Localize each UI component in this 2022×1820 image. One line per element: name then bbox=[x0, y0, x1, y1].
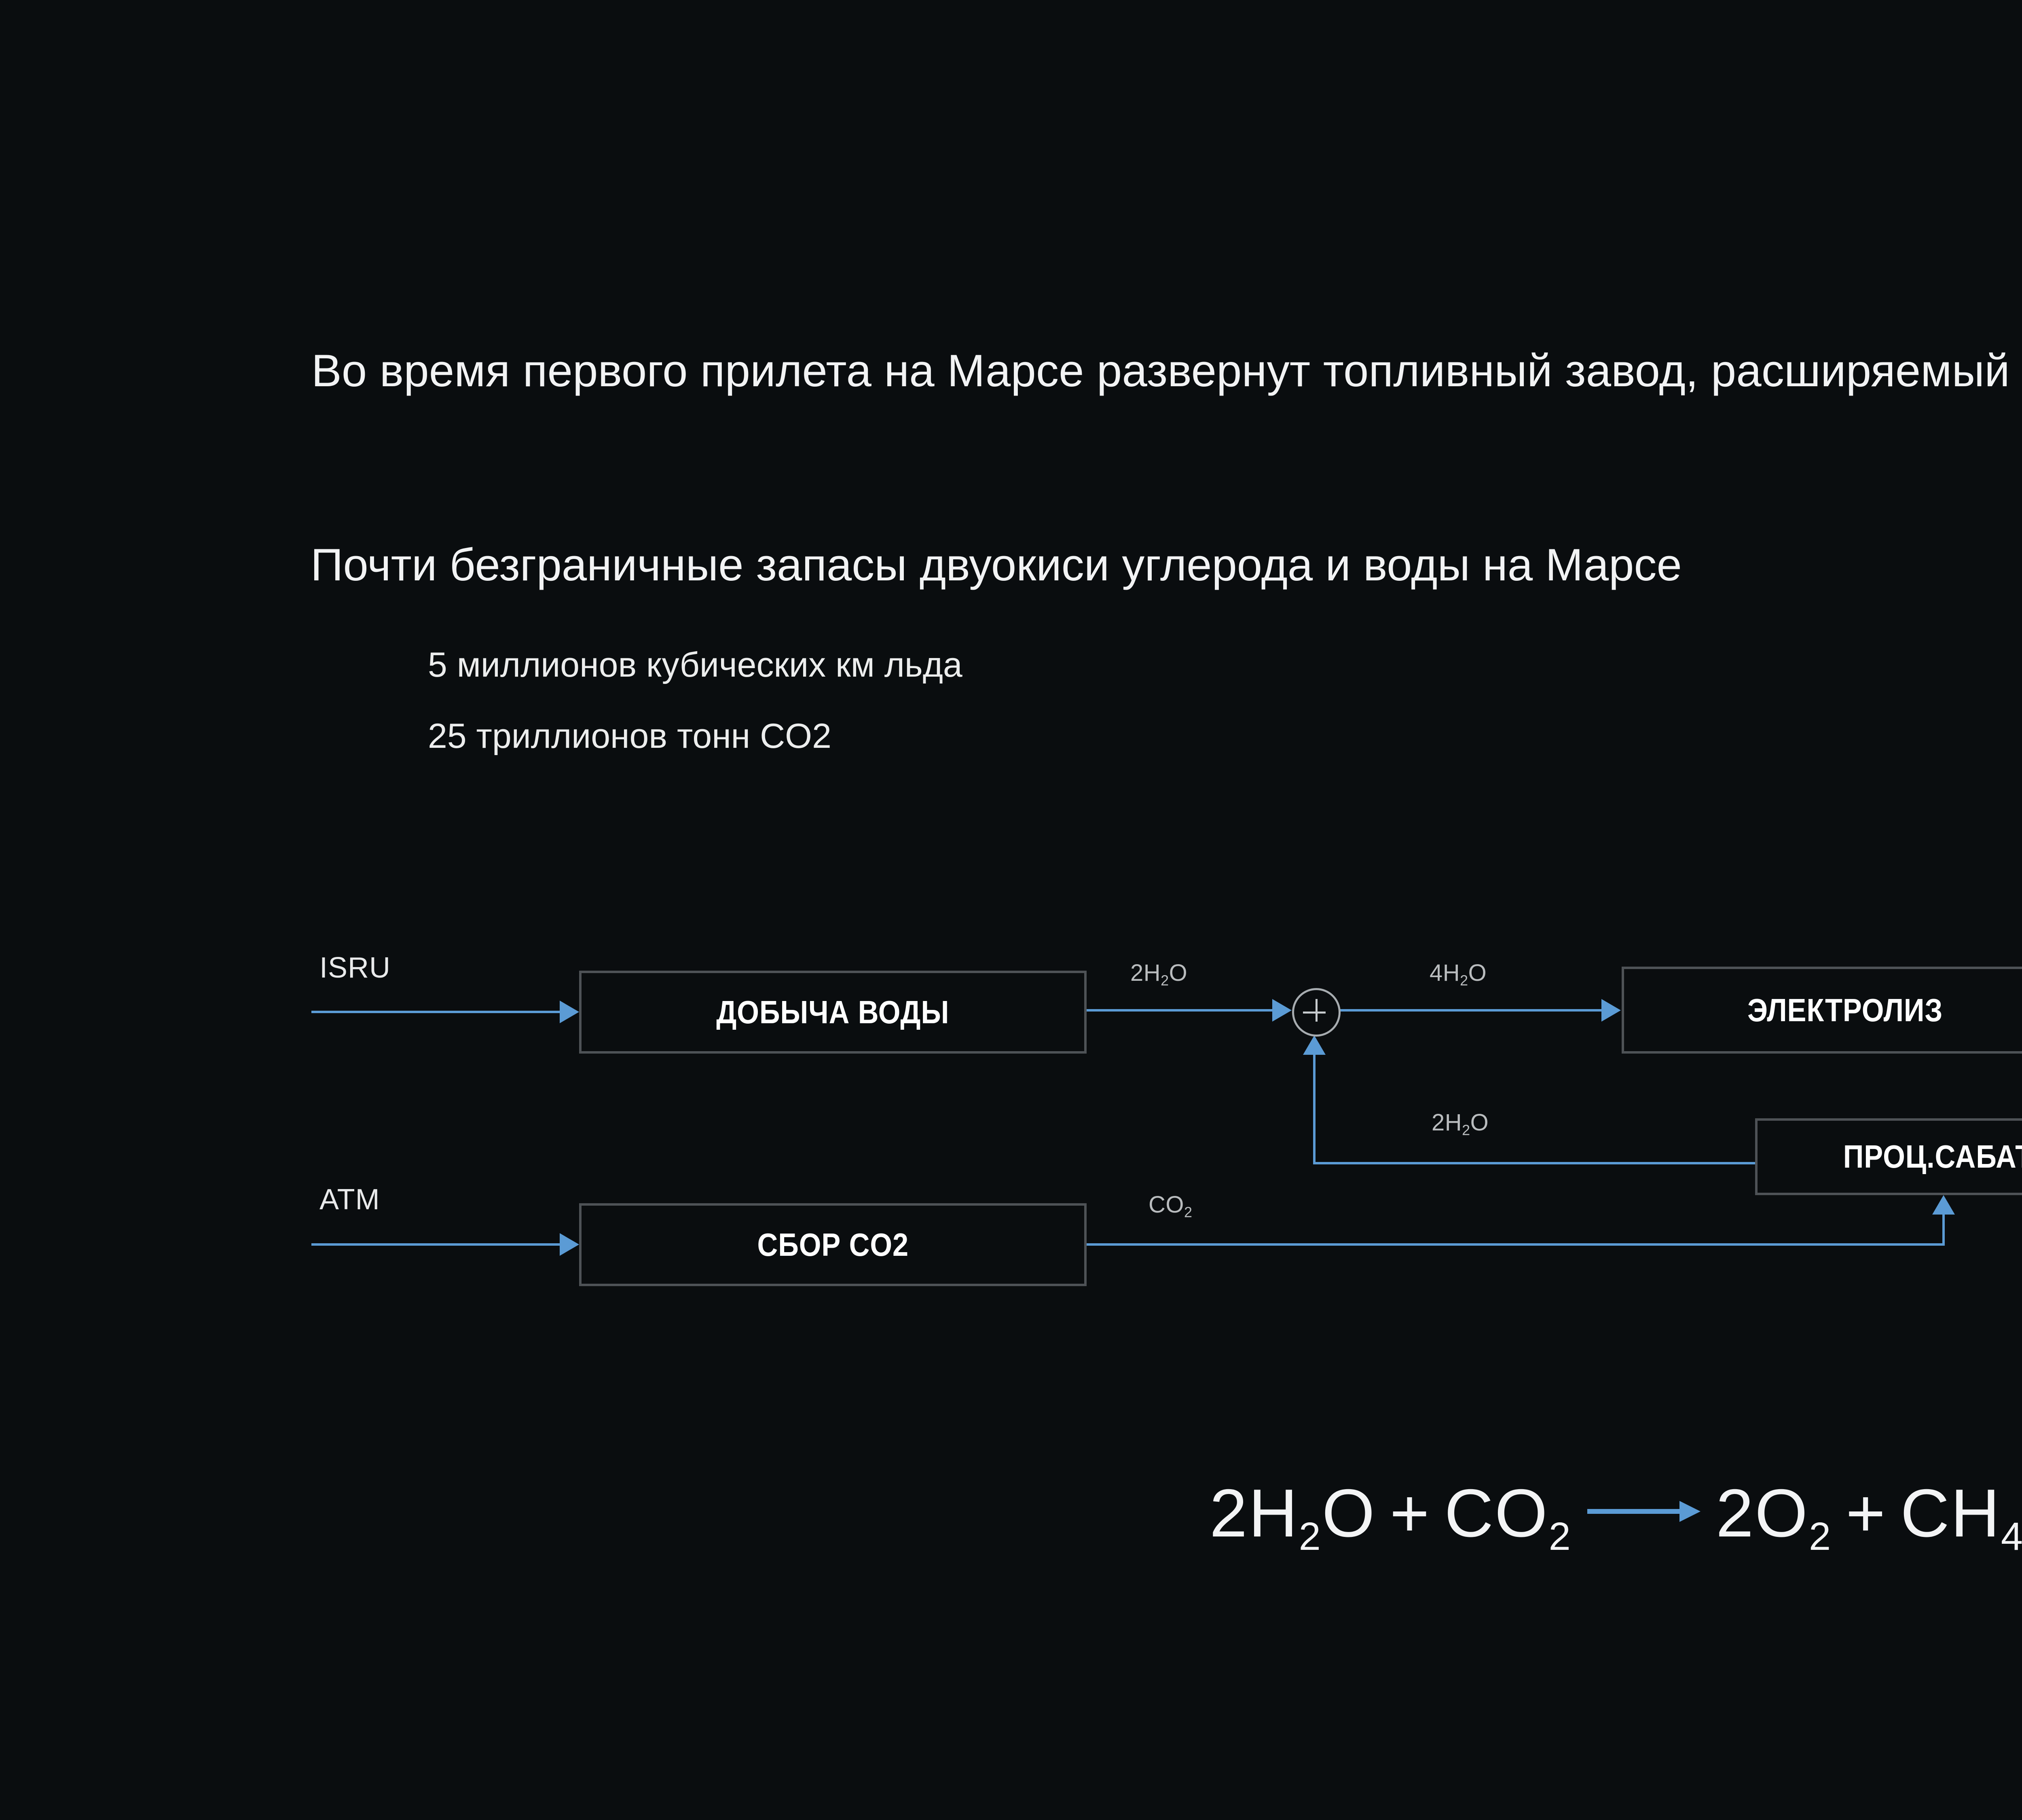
equation-lhs-co2: CO2 bbox=[1445, 1475, 1572, 1551]
equation-rhs-ch4: CH4 bbox=[1900, 1475, 2022, 1551]
equation-plus-2: + bbox=[1846, 1475, 1887, 1551]
connector-co2-sabatier-v bbox=[1942, 1215, 1945, 1245]
arrowhead-isru-water bbox=[560, 1001, 579, 1023]
flow-label-2h2o-mixer: 2H2O bbox=[1130, 959, 1187, 989]
process-box-electrolysis[interactable]: ЭЛЕКТРОЛИЗ bbox=[1622, 967, 2022, 1054]
process-box-label: ЭЛЕКТРОЛИЗ bbox=[1747, 992, 1943, 1029]
chemical-equation: 2H2O+CO22O2+CH4 bbox=[0, 1474, 2022, 1559]
source-label-atm: ATM bbox=[319, 1183, 380, 1216]
equation-arrow-icon bbox=[1587, 1509, 1701, 1515]
flow-label-2h2o-recycle: 2H2O bbox=[1432, 1109, 1489, 1139]
connector-mixer-electrolysis bbox=[1337, 1009, 1601, 1012]
process-box-co2-collection[interactable]: СБОР CO2 bbox=[579, 1203, 1087, 1286]
process-box-label: СБОР CO2 bbox=[757, 1226, 909, 1263]
connector-sabatier-recycle-h bbox=[1313, 1162, 1757, 1164]
connector-co2-sabatier-h bbox=[1087, 1243, 1945, 1246]
arrowhead-recycle-mixer bbox=[1303, 1035, 1326, 1055]
arrowhead-atm-co2 bbox=[560, 1233, 579, 1256]
equation-rhs-o2: 2O2 bbox=[1716, 1475, 1832, 1551]
process-box-label: ДОБЫЧА ВОДЫ bbox=[717, 994, 950, 1031]
arrowhead-mixer-electrolysis bbox=[1601, 999, 1621, 1022]
slide-canvas: Во время первого прилета на Марсе развер… bbox=[0, 0, 2022, 1820]
arrowhead-co2-sabatier bbox=[1932, 1195, 1955, 1215]
process-box-label: ПРОЦ.САБАТЬЕ bbox=[1843, 1138, 2022, 1175]
equation-lhs-water: 2H2O bbox=[1210, 1475, 1376, 1551]
mixer-junction-node bbox=[1292, 988, 1341, 1037]
process-box-sabatier[interactable]: ПРОЦ.САБАТЬЕ bbox=[1755, 1118, 2022, 1195]
arrowhead-water-mixer bbox=[1272, 999, 1292, 1022]
process-box-water-extraction[interactable]: ДОБЫЧА ВОДЫ bbox=[579, 971, 1087, 1054]
connector-isru-water bbox=[311, 1011, 560, 1013]
flow-label-4h2o: 4H2O bbox=[1430, 959, 1487, 989]
flow-label-co2: CO2 bbox=[1148, 1191, 1193, 1221]
connector-sabatier-recycle-v bbox=[1313, 1055, 1316, 1164]
connector-water-mixer bbox=[1087, 1009, 1273, 1012]
connector-atm-co2 bbox=[311, 1243, 560, 1246]
source-label-isru: ISRU bbox=[319, 951, 391, 984]
equation-plus-1: + bbox=[1390, 1475, 1431, 1551]
